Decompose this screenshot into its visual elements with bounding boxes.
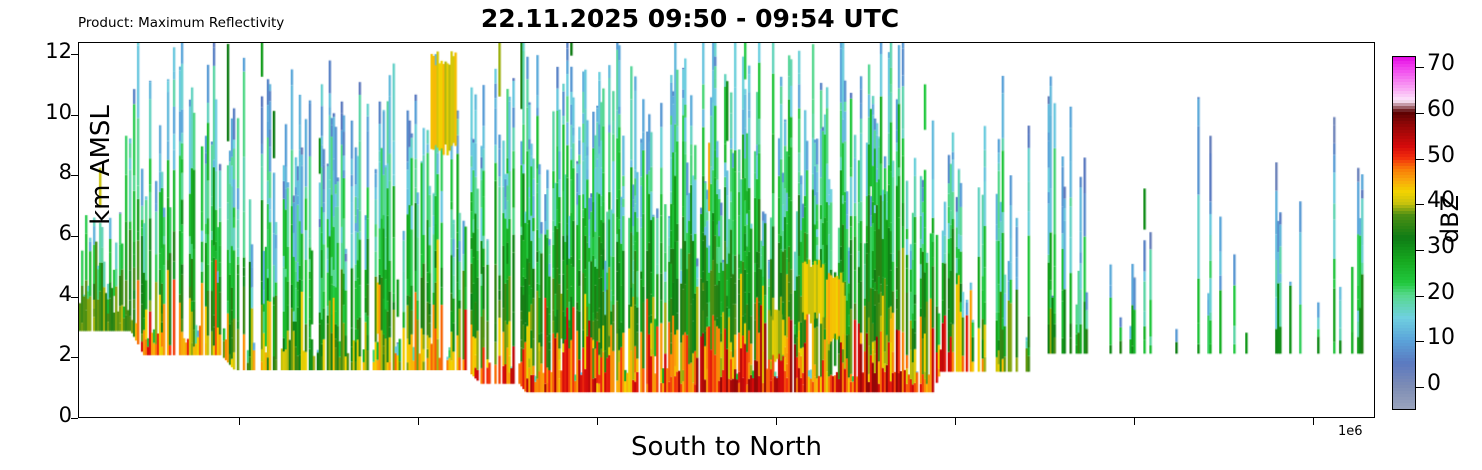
colorbar-tick-mark	[1416, 387, 1424, 388]
y-tick-mark	[71, 297, 78, 298]
colorbar-label: dBZ	[1436, 164, 1464, 274]
colorbar-tick-label: 0	[1427, 371, 1441, 396]
y-tick-label: 0	[59, 403, 72, 427]
colorbar-tick-label: 20	[1427, 280, 1455, 305]
x-tick-mark	[597, 418, 598, 425]
x-tick-mark	[776, 418, 777, 425]
colorbar-tick-label: 10	[1427, 325, 1455, 350]
colorbar-tick-label: 60	[1427, 97, 1455, 122]
y-tick-mark	[71, 236, 78, 237]
y-tick-mark	[71, 175, 78, 176]
colorbar	[1392, 56, 1416, 410]
y-tick-mark	[71, 418, 78, 419]
colorbar-band	[1393, 56, 1415, 58]
y-tick-label: 2	[59, 342, 72, 366]
y-tick-label: 10	[45, 100, 72, 124]
x-axis-offset-text: 1e6	[1338, 424, 1363, 439]
colorbar-tick-mark	[1416, 204, 1424, 205]
y-tick-label: 12	[45, 39, 72, 63]
y-tick-mark	[71, 357, 78, 358]
y-tick-label: 4	[59, 282, 72, 306]
y-tick-label: 8	[59, 160, 72, 184]
x-tick-mark	[955, 418, 956, 425]
reflectivity-heatmap	[79, 43, 1374, 417]
y-tick-mark	[71, 54, 78, 55]
product-label: Product: Maximum Reflectivity	[78, 15, 284, 31]
y-axis-label: km AMSL	[86, 55, 116, 275]
colorbar-tick-label: 70	[1427, 51, 1455, 76]
colorbar-tick-mark	[1416, 159, 1424, 160]
y-tick-label: 6	[59, 221, 72, 245]
x-tick-mark	[1134, 418, 1135, 425]
colorbar-tick-mark	[1416, 250, 1424, 251]
x-axis-label: South to North	[78, 432, 1375, 462]
x-tick-mark	[1313, 418, 1314, 425]
colorbar-tick-mark	[1416, 113, 1424, 114]
plot-area	[78, 42, 1375, 418]
colorbar-tick-mark	[1416, 296, 1424, 297]
colorbar-tick-mark	[1416, 341, 1424, 342]
colorbar-tick-mark	[1416, 67, 1424, 68]
x-tick-mark	[239, 418, 240, 425]
x-tick-mark	[418, 418, 419, 425]
y-tick-mark	[71, 115, 78, 116]
radar-cross-section-figure: 22.11.2025 09:50 - 09:54 UTC Product: Ma…	[0, 0, 1482, 470]
